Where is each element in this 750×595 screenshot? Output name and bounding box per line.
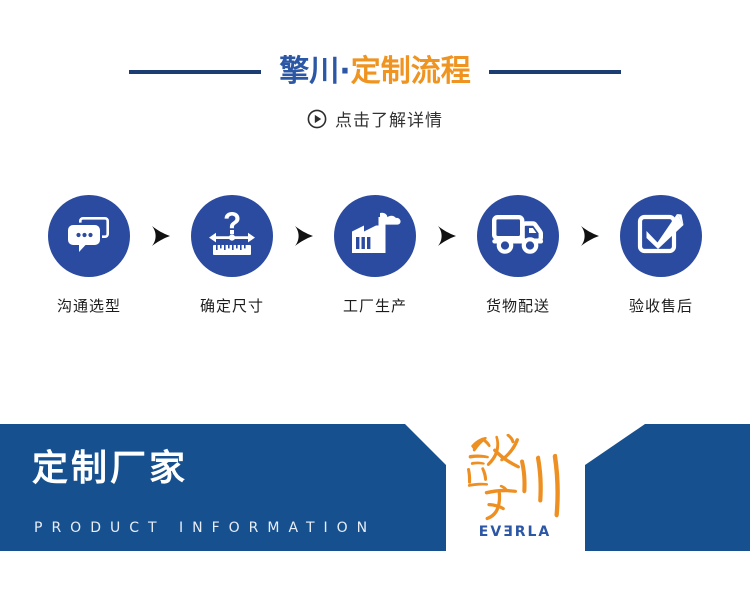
title-rule-right (489, 70, 621, 74)
factory-icon (349, 211, 401, 261)
arrow-right-icon (291, 223, 317, 249)
step-label: 沟通选型 (57, 295, 121, 316)
step-item[interactable]: 确定尺寸 (183, 195, 281, 316)
step-label: 验收售后 (629, 295, 693, 316)
step-item[interactable]: 货物配送 (469, 195, 567, 316)
page-title-primary: 擎川· (279, 54, 350, 89)
header-section: 擎川·定制流程 点击了解详情 (0, 0, 750, 150)
arrow-right-icon (434, 223, 460, 249)
step-item[interactable]: 验收售后 (612, 195, 710, 316)
subtitle-text: 点击了解详情 (335, 113, 443, 130)
step-item[interactable]: 工厂生产 (326, 195, 424, 316)
logo-wordmark: EVƎRLA (471, 525, 559, 539)
step-icon-circle[interactable] (334, 195, 416, 277)
arrow-right-icon (148, 223, 174, 249)
qingchuan-calligraphy-logo (462, 429, 582, 529)
banner-right-panel (585, 424, 750, 551)
title-rule-left (129, 70, 261, 74)
subtitle-row[interactable]: 点击了解详情 (0, 108, 750, 134)
process-steps: 沟通选型 (40, 195, 710, 330)
page-title: 擎川·定制流程 (279, 57, 470, 87)
play-circle-icon[interactable] (307, 109, 327, 133)
title-row: 擎川·定制流程 (0, 52, 750, 92)
step-label: 确定尺寸 (200, 295, 264, 316)
arrow-right-icon (577, 223, 603, 249)
ruler-measure-icon (207, 211, 257, 261)
bottom-banner: 定制厂家 PRODUCT INFORMATION (0, 424, 750, 554)
delivery-truck-icon (492, 213, 544, 259)
page-title-secondary: 定制流程 (351, 54, 471, 89)
step-icon-circle[interactable] (620, 195, 702, 277)
step-icon-circle[interactable] (48, 195, 130, 277)
checkbox-check-icon (637, 211, 685, 261)
step-icon-circle[interactable] (477, 195, 559, 277)
brand-logo: EVƎRLA (462, 429, 582, 551)
step-item[interactable]: 沟通选型 (40, 195, 138, 316)
step-label: 工厂生产 (343, 295, 407, 316)
banner-subtitle: PRODUCT INFORMATION (34, 521, 376, 535)
banner-title: 定制厂家 (32, 451, 188, 487)
step-label: 货物配送 (486, 295, 550, 316)
step-icon-circle[interactable] (191, 195, 273, 277)
chat-bubbles-icon (65, 212, 113, 260)
